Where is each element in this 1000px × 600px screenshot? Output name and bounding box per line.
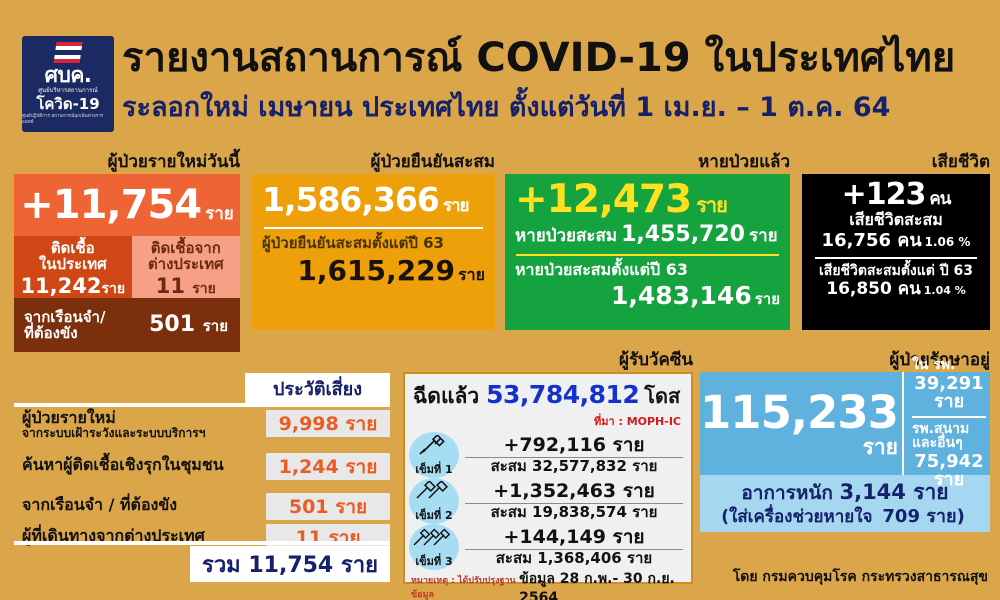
domestic-unit: ราย [101, 281, 125, 297]
vaccine-source: ที่มา : MOPH-IC [405, 412, 691, 430]
vaccine-panel: ฉีดแล้ว 53,784,812 โดส ที่มา : MOPH-IC เ… [403, 372, 693, 584]
dose-label: เข็มที่ 1 [415, 464, 452, 475]
treating-total: 115,233 ราย [700, 372, 902, 475]
imported-unit: ราย [192, 281, 216, 297]
recovered-headline: +12,473ราย [515, 180, 780, 219]
dose-cum-value: สะสม 1,368,406 ราย [465, 551, 683, 567]
syringe-icon [417, 435, 451, 457]
prison-cases-box: จากเรือนจำ/ ที่ต้องขัง 501 ราย [14, 298, 240, 352]
risk-row: ผู้ป่วยรายใหม่ จากระบบเฝ้าระวังและระบบบร… [14, 410, 390, 440]
risk-row: ค้นหาผู้ติดเชื้อเชิงรุกในชุมชน 1,244 ราย [14, 453, 390, 483]
risk-bottom-divider [14, 541, 390, 545]
risk-label-line2: จากระบบเฝ้าระวังและระบบบริการฯ [22, 427, 205, 439]
domestic-cases-box: ติดเชื้อ ในประเทศ 11,242ราย [14, 236, 132, 298]
card-deaths: +123คน เสียชีวิตสะสม 16,756 คน1.06 % เสี… [802, 174, 990, 330]
ccsa-logo: ศบค. ศูนย์บริหารสถานการณ์ โควิด-19 ศูนย์… [22, 36, 114, 132]
dose-values: +1,352,463 ราย สะสม 19,838,574 ราย [459, 482, 691, 521]
prison-label-line2: ที่ต้องขัง [24, 325, 105, 342]
dose-label: เข็มที่ 2 [415, 510, 452, 521]
deaths-value: +123 [842, 177, 926, 212]
cumulative-unit: ราย [443, 196, 469, 216]
ventilator-label: (ใส่เครื่องช่วยหายใจ [721, 507, 872, 527]
deaths-since63-value: 16,850 คน [826, 279, 921, 299]
domestic-label-line2: ในประเทศ [20, 257, 126, 273]
treating-unit: ราย [863, 437, 898, 458]
in-hospital-value: 39,291 ราย [912, 375, 986, 411]
new-cases-headline: +11,754 ราย [14, 174, 240, 236]
dose-row: เข็มที่ 3 +144,149 ราย สะสม 1,368,406 รา… [405, 524, 691, 570]
syringe-icon [414, 481, 454, 503]
card-recovered: +12,473ราย หายป่วยสะสม1,455,720ราย หายป่… [505, 174, 790, 330]
dose-cum-value: สะสม 32,577,832 ราย [465, 459, 683, 475]
imported-label-line2: ต่างประเทศ [138, 257, 234, 273]
cumulative-value: 1,586,366 [262, 180, 439, 219]
prison-number: 501 [149, 312, 195, 337]
recovered-cumulative-row: หายป่วยสะสม1,455,720ราย [515, 224, 780, 246]
deaths-since63-label: เสียชีวิตสะสมตั้งแต่ ปี 63 [811, 264, 981, 279]
severe-label: อาการหนัก [741, 482, 832, 504]
in-hospital-label: ใน รพ. [912, 358, 986, 372]
risk-top-divider [14, 403, 390, 407]
vaccine-injected-label: ฉีดแล้ว [413, 380, 479, 413]
dose-new-value: +1,352,463 ราย [465, 482, 683, 502]
recovered-unit: ราย [696, 193, 727, 217]
risk-history-heading: ประวัติเสี่ยง [245, 373, 390, 403]
dose-row: เข็มที่ 2 +1,352,463 ราย สะสม 19,838,574… [405, 478, 691, 524]
deaths-cum-label: เสียชีวิตสะสม [811, 212, 981, 229]
recovered-since63-row: 1,483,146ราย [515, 283, 780, 308]
new-cases-breakdown: ติดเชื้อ ในประเทศ 11,242ราย ติดเชื้อจาก … [14, 236, 240, 298]
risk-row-label: จากเรือนจำ / ที่ต้องขัง [22, 497, 177, 513]
prison-label: จากเรือนจำ/ ที่ต้องขัง [24, 309, 105, 342]
recovered-cum-label: หายป่วยสะสม [515, 226, 617, 246]
cumulative-since63-unit: ราย [458, 265, 485, 284]
logo-covid-text: โควิด-19 [36, 96, 99, 113]
deaths-headline: +123คน [811, 180, 981, 210]
cumulative-since63-label: ผู้ป่วยยืนยันสะสมตั้งแต่ปี 63 [262, 236, 485, 251]
page-subtitle: ระลอกใหม่ เมษายน ประเทศไทย ตั้งแต่วันที่… [122, 94, 982, 121]
dose-values: +792,116 ราย สะสม 32,577,832 ราย [459, 436, 691, 475]
prison-label-line1: จากเรือนจำ/ [24, 309, 105, 326]
divider [264, 227, 483, 229]
risk-row-label: ค้นหาผู้ติดเชื้อเชิงรุกในชุมชน [22, 457, 224, 473]
vaccine-injected-value: 53,784,812 [486, 380, 639, 409]
vaccine-injected-unit: โดส [644, 380, 680, 412]
risk-label-line1: ผู้ป่วยรายใหม่ [22, 410, 205, 426]
credit-line: โดย กรมควบคุมโรค กระทรวงสาธารณสุข [733, 566, 988, 588]
recovered-since63-value: 1,483,146 [611, 281, 752, 310]
card-new-cases: +11,754 ราย ติดเชื้อ ในประเทศ 11,242ราย … [14, 174, 240, 352]
infographic-root: ศบค. ศูนย์บริหารสถานการณ์ โควิด-19 ศูนย์… [0, 0, 1000, 600]
risk-row-value: 9,998 ราย [266, 410, 390, 437]
recovered-cum-value: 1,455,720 [621, 222, 745, 247]
vaccine-headline: ฉีดแล้ว 53,784,812 โดส [405, 374, 691, 413]
risk-total: รวม 11,754 ราย [190, 546, 390, 582]
ventilator-value: 709 ราย) [882, 506, 964, 527]
thai-flag-icon [53, 42, 82, 64]
severe-value: 3,144 ราย [839, 480, 948, 504]
recovered-value: +12,473 [515, 177, 691, 222]
treating-value: 115,233 [700, 390, 898, 435]
dose-values: +144,149 ราย สะสม 1,368,406 ราย [459, 528, 691, 567]
syringe-3-icon: เข็มที่ 3 [409, 524, 459, 570]
syringe-2-icon: เข็มที่ 2 [409, 478, 459, 524]
cumulative-since63-value: 1,615,229 [297, 254, 455, 287]
imported-number: 11 [156, 274, 185, 298]
logo-footnote: ศูนย์ปฏิบัติการ สถานการณ์ฉุกเฉินทางการแพ… [22, 114, 114, 126]
deaths-since63-row: 16,850 คน1.04 % [811, 281, 981, 298]
deaths-unit: คน [929, 189, 950, 209]
logo-subtitle: ศูนย์บริหารสถานการณ์ [38, 87, 98, 95]
risk-label-line1: จากเรือนจำ / ที่ต้องขัง [22, 497, 177, 513]
treating-breakdown: ใน รพ. 39,291 ราย รพ.สนามและอื่นๆ 75,942… [902, 372, 990, 475]
domestic-number: 11,242 [20, 274, 101, 298]
new-cases-unit: ราย [205, 200, 234, 227]
prison-unit: ราย [203, 317, 228, 335]
domestic-value: 11,242ราย [20, 276, 126, 297]
caption-recovered: หายป่วยแล้ว [505, 154, 790, 171]
logo-acronym: ศบค. [45, 65, 92, 86]
treating-main: 115,233 ราย ใน รพ. 39,291 ราย รพ.สนามและ… [700, 372, 990, 475]
divider [516, 254, 779, 256]
risk-row-value: 501 ราย [266, 493, 390, 520]
deaths-cum-value: 16,756 คน [822, 230, 922, 251]
cumulative-since63-row: 1,615,229ราย [262, 257, 485, 285]
risk-row-value: 1,244 ราย [266, 453, 390, 480]
deaths-cum-pct: 1.06 % [925, 235, 971, 249]
dose-label: เข็มที่ 3 [415, 556, 452, 567]
vaccine-note: หมายเหตุ : ได้ปรับปรุงฐานข้อมูล ข้อมูล 2… [405, 568, 691, 600]
risk-row-label: ผู้ป่วยรายใหม่ จากระบบเฝ้าระวังและระบบบร… [22, 410, 205, 439]
divider [912, 416, 986, 418]
imported-value: 11 ราย [138, 276, 234, 297]
imported-cases-box: ติดเชื้อจาก ต่างประเทศ 11 ราย [132, 236, 240, 298]
dose-row: เข็มที่ 1 +792,116 ราย สะสม 32,577,832 ร… [405, 432, 691, 478]
prison-value: 501 ราย [149, 312, 228, 338]
caption-new-cases: ผู้ป่วยรายใหม่วันนี้ [14, 154, 240, 171]
vaccine-note-right: ข้อมูล 28 ก.พ.- 30 ก.ย. 2564 [519, 568, 685, 600]
dose-cum-value: สะสม 19,838,574 ราย [465, 505, 683, 521]
new-cases-value: +11,754 [20, 185, 201, 225]
vaccine-note-left: หมายเหตุ : ได้ปรับปรุงฐานข้อมูล [411, 573, 517, 600]
recovered-since63-unit: ราย [755, 290, 780, 308]
risk-row: จากเรือนจำ / ที่ต้องขัง 501 ราย [14, 493, 390, 523]
syringe-icon [412, 527, 456, 549]
caption-deaths: เสียชีวิต [802, 154, 990, 171]
deaths-cum-row: 16,756 คน1.06 % [811, 232, 981, 250]
field-hospital-label: รพ.สนามและอื่นๆ [912, 422, 986, 450]
caption-cumulative: ผู้ป่วยยืนยันสะสม [252, 154, 495, 171]
dose-new-value: +144,149 ราย [465, 528, 683, 548]
risk-label-line1: ค้นหาผู้ติดเชื้อเชิงรุกในชุมชน [22, 457, 224, 473]
caption-vaccine: ผู้รับวัคซีน [403, 352, 693, 369]
severe-cases-box: อาการหนัก 3,144 ราย (ใส่เครื่องช่วยหายใจ… [700, 475, 990, 532]
dose-new-value: +792,116 ราย [465, 436, 683, 456]
divider [815, 257, 977, 259]
ventilator-row: (ใส่เครื่องช่วยหายใจ 709 ราย) [721, 508, 969, 526]
treating-panel: 115,233 ราย ใน รพ. 39,291 ราย รพ.สนามและ… [700, 372, 990, 532]
syringe-1-icon: เข็มที่ 1 [409, 432, 459, 478]
cumulative-headline: 1,586,366ราย [262, 183, 485, 216]
deaths-since63-pct: 1.04 % [924, 284, 966, 297]
severe-row: อาการหนัก 3,144 ราย [741, 482, 948, 503]
card-cumulative-cases: 1,586,366ราย ผู้ป่วยยืนยันสะสมตั้งแต่ปี … [252, 174, 495, 330]
recovered-cum-unit: ราย [749, 226, 778, 246]
recovered-since63-label: หายป่วยสะสมตั้งแต่ปี 63 [515, 262, 780, 278]
page-title: รายงานสถานการณ์ COVID-19 ในประเทศไทย [122, 38, 982, 78]
vaccine-dose-list: เข็มที่ 1 +792,116 ราย สะสม 32,577,832 ร… [405, 432, 691, 570]
